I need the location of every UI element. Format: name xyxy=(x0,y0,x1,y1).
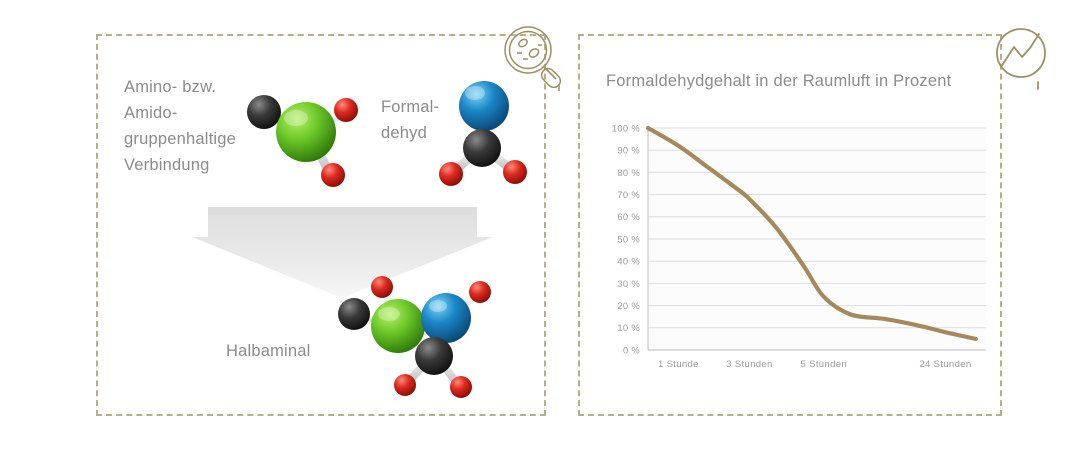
magnifier-molecule-icon xyxy=(498,22,570,94)
y-tick-label: 50 % xyxy=(617,233,640,244)
x-tick-label: 24 Stunden xyxy=(919,359,971,370)
chart-title: Formaldehydgehalt in der Raumluft in Pro… xyxy=(606,72,951,91)
y-tick-label: 70 % xyxy=(617,189,640,200)
y-tick-label: 30 % xyxy=(617,278,640,289)
screenshot-root: Amino- bzw. Amido- gruppenhaltige Verbin… xyxy=(0,0,1080,462)
y-tick-label: 100 % xyxy=(612,122,640,133)
y-tick-label: 80 % xyxy=(617,167,640,178)
y-tick-label: 10 % xyxy=(617,322,640,333)
x-axis-tick-labels: 1 Stunde3 Stunden5 Stunden24 Stunden xyxy=(658,359,971,370)
molecule-amino-compound xyxy=(238,78,368,190)
y-tick-label: 0 % xyxy=(623,344,640,355)
y-tick-label: 60 % xyxy=(617,211,640,222)
x-tick-label: 5 Stunden xyxy=(801,359,847,370)
molecule-halbaminal xyxy=(330,272,500,400)
x-tick-label: 3 Stunden xyxy=(726,359,772,370)
y-tick-label: 20 % xyxy=(617,300,640,311)
y-tick-label: 90 % xyxy=(617,145,640,156)
line-chart: 100 %90 %80 %70 %60 %50 %40 %30 %20 %10 … xyxy=(596,118,996,378)
y-tick-label: 40 % xyxy=(617,256,640,267)
x-tick-label: 1 Stunde xyxy=(658,359,699,370)
trend-chart-icon xyxy=(988,20,1060,92)
y-axis-tick-labels: 100 %90 %80 %70 %60 %50 %40 %30 %20 %10 … xyxy=(612,122,640,355)
